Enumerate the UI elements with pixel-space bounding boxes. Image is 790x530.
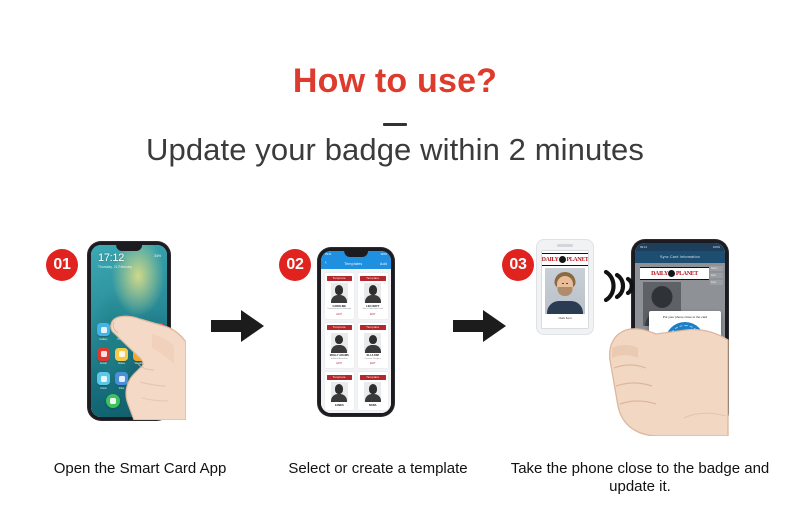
badge-portrait bbox=[545, 268, 585, 314]
template-name: NORA bbox=[360, 404, 386, 407]
template-edit-button[interactable]: EDIT bbox=[327, 313, 353, 316]
phone3-status-left: 09:41 bbox=[640, 245, 647, 249]
phone2-notch bbox=[344, 251, 368, 257]
step-caption-1: Open the Smart Card App bbox=[20, 460, 260, 478]
phone2-status-right: 100% bbox=[380, 253, 387, 256]
field-role[interactable]: Role bbox=[710, 273, 723, 278]
phone3-status-bar: 09:41 100% bbox=[635, 243, 725, 251]
template-card[interactable]: Template MOLLY ADAMS Editorial Assistant… bbox=[325, 323, 355, 369]
template-card[interactable]: Template NORA bbox=[358, 372, 388, 410]
chevron-left-icon[interactable]: ‹ bbox=[325, 261, 327, 266]
badge-masthead: DAILY PLANET bbox=[542, 253, 588, 266]
template-edit-button[interactable]: EDIT bbox=[360, 362, 386, 365]
badge-slot bbox=[557, 244, 573, 247]
masthead-left-text: DAILY bbox=[651, 271, 668, 277]
holding-hand-illustration bbox=[596, 286, 736, 436]
phone1-date: Thursday, 21 February bbox=[98, 265, 132, 269]
template-card-header: Template bbox=[327, 276, 353, 281]
field-name[interactable]: Name bbox=[710, 266, 723, 271]
template-edit-button[interactable]: EDIT bbox=[327, 362, 353, 365]
masthead-left-text: DAILY bbox=[542, 257, 558, 263]
step-caption-3: Take the phone close to the badge and up… bbox=[510, 460, 770, 496]
template-name: JAMES bbox=[327, 404, 353, 407]
id-badge-card: DAILY PLANET Clark Kent bbox=[537, 240, 593, 334]
template-portrait bbox=[331, 283, 348, 303]
phone-mockup-step2: 09:41 100% ‹ Templates Add Template CARO… bbox=[318, 248, 394, 416]
phone2-screen: 09:41 100% ‹ Templates Add Template CARO… bbox=[321, 251, 391, 413]
template-card[interactable]: Template LEO WATT Sales & Account Lead E… bbox=[358, 273, 388, 319]
template-portrait bbox=[364, 382, 381, 402]
globe-icon bbox=[559, 256, 566, 263]
template-portrait bbox=[331, 382, 348, 402]
field-dept[interactable]: Dept bbox=[710, 280, 723, 285]
step-badge-02: 02 bbox=[279, 249, 311, 281]
phone2-template-grid: Template CAROLINE Communications Manager… bbox=[321, 269, 391, 413]
page-title: How to use? bbox=[0, 62, 790, 101]
arrow-right-icon bbox=[211, 309, 265, 343]
how-to-use-infographic: How to use? Update your badge within 2 m… bbox=[0, 0, 790, 530]
template-card-header: Template bbox=[360, 325, 386, 330]
badge-inner: DAILY PLANET Clark Kent bbox=[542, 251, 588, 328]
step-badge-01: 01 bbox=[46, 249, 78, 281]
template-role: Sales & Account Lead bbox=[360, 308, 386, 311]
template-card-header: Template bbox=[360, 375, 386, 380]
template-card-header: Template bbox=[327, 375, 353, 380]
masthead-right-text: PLANET bbox=[676, 271, 698, 277]
template-role: Editorial Assistant bbox=[327, 358, 353, 361]
step-badge-03: 03 bbox=[502, 249, 534, 281]
template-role: Communications Manager bbox=[327, 308, 353, 311]
globe-icon bbox=[668, 270, 675, 277]
step-caption-2: Select or create a template bbox=[258, 460, 498, 478]
template-portrait bbox=[331, 333, 348, 353]
phone2-appbar: ‹ Templates Add bbox=[321, 258, 391, 269]
phone1-status-right: 34% bbox=[154, 253, 161, 258]
phone2-status-left: 09:41 bbox=[325, 253, 332, 256]
phone3-masthead: DAILY PLANET bbox=[640, 267, 709, 280]
template-role: Creative Designer bbox=[360, 358, 386, 361]
template-portrait bbox=[364, 333, 381, 353]
badge-name: Clark Kent bbox=[542, 317, 588, 320]
pointing-hand-illustration bbox=[100, 300, 186, 420]
phone3-field-list: Name Role Dept bbox=[710, 266, 723, 287]
template-card[interactable]: Template CAROLINE Communications Manager… bbox=[325, 273, 355, 319]
template-name: MOLLY ADAMS bbox=[327, 354, 353, 357]
phone1-clock: 17:12 bbox=[98, 253, 132, 264]
phone3-appbar-title: Sync Card Information bbox=[635, 251, 725, 263]
template-card-header: Template bbox=[327, 325, 353, 330]
template-card[interactable]: Template ELLA KIM Creative Designer EDIT bbox=[358, 323, 388, 369]
phone1-notch bbox=[116, 245, 142, 251]
title-divider bbox=[383, 123, 407, 126]
page-subtitle: Update your badge within 2 minutes bbox=[0, 132, 790, 168]
masthead-right-text: PLANET bbox=[566, 257, 588, 263]
phone1-status-bar: 17:12 Thursday, 21 February 34% bbox=[98, 253, 161, 269]
template-portrait bbox=[364, 283, 381, 303]
phone3-status-right: 100% bbox=[713, 245, 720, 249]
template-card-header: Template bbox=[360, 276, 386, 281]
template-card[interactable]: Template JAMES bbox=[325, 372, 355, 410]
phone2-appbar-action[interactable]: Add bbox=[380, 262, 387, 266]
arrow-right-icon bbox=[453, 309, 507, 343]
phone2-appbar-title: Templates bbox=[344, 262, 362, 266]
template-edit-button[interactable]: EDIT bbox=[360, 313, 386, 316]
